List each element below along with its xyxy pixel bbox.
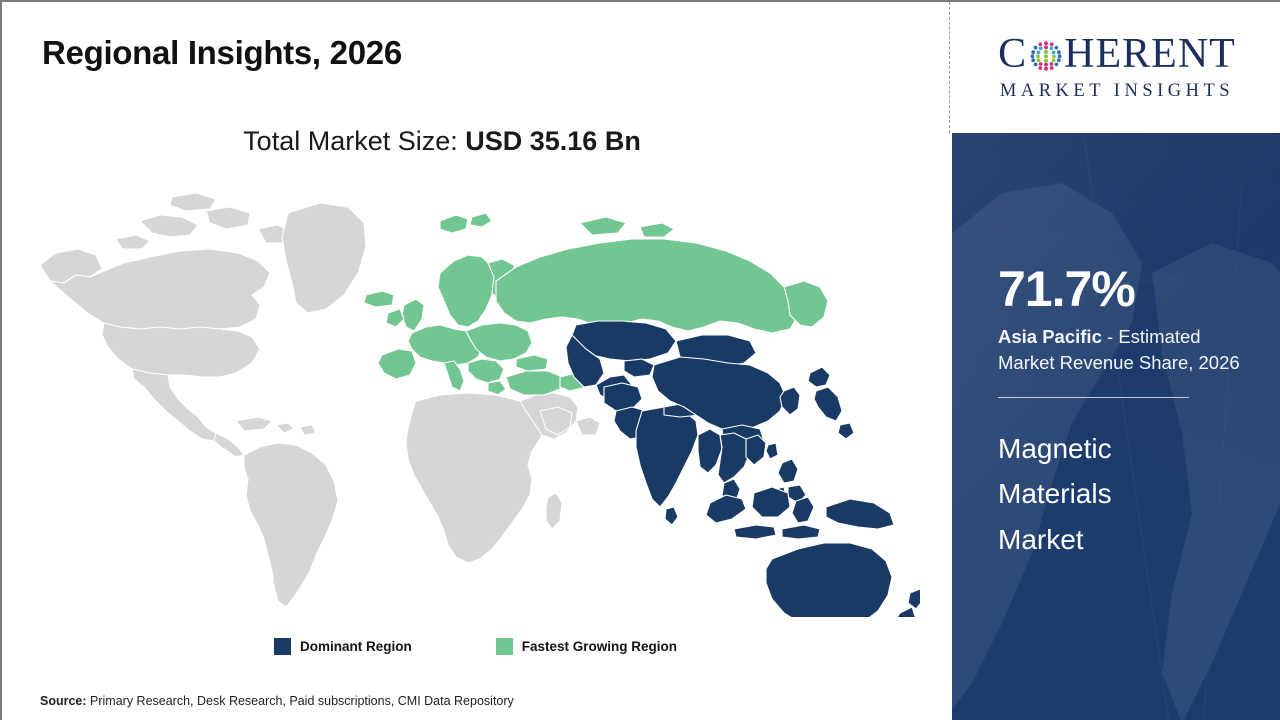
- market-size-value: USD 35.16 Bn: [465, 126, 641, 156]
- panel-content: 71.7% Asia Pacific - Estimated Market Re…: [998, 133, 1260, 562]
- left-content-pane: Regional Insights, 2026 Total Market Siz…: [2, 2, 949, 720]
- stat-panel: 71.7% Asia Pacific - Estimated Market Re…: [952, 133, 1280, 720]
- brand-logo: C: [952, 2, 1280, 133]
- source-label: Source:: [40, 694, 87, 708]
- legend-label-fastest-growing: Fastest Growing Region: [522, 639, 677, 654]
- source-note: Source: Primary Research, Desk Research,…: [40, 694, 514, 708]
- map-legend: Dominant Region Fastest Growing Region: [2, 638, 949, 655]
- logo-wordmark: C: [972, 33, 1262, 75]
- legend-item-fastest-growing: Fastest Growing Region: [496, 638, 677, 655]
- stat-description: Asia Pacific - Estimated Market Revenue …: [998, 324, 1244, 375]
- page-title: Regional Insights, 2026: [42, 34, 402, 72]
- dotted-globe-icon: [1029, 39, 1063, 73]
- logo-inner: C: [972, 33, 1262, 102]
- logo-letter-c: C: [998, 33, 1027, 75]
- stat-value: 71.7%: [998, 264, 1260, 314]
- green-square-swatch: [496, 638, 513, 655]
- world-map: [20, 177, 920, 617]
- legend-label-dominant: Dominant Region: [300, 639, 412, 654]
- navy-square-swatch: [274, 638, 291, 655]
- total-market-size: Total Market Size: USD 35.16 Bn: [2, 126, 882, 157]
- panel-divider-rule: [998, 397, 1189, 398]
- infographic-page: Regional Insights, 2026 Total Market Siz…: [0, 0, 1280, 720]
- market-name: Magnetic Materials Market: [998, 426, 1198, 562]
- map-region-dominant: [566, 321, 920, 617]
- legend-item-dominant: Dominant Region: [274, 638, 412, 655]
- market-size-prefix: Total Market Size:: [243, 126, 465, 156]
- logo-tagline: MARKET INSIGHTS: [972, 81, 1262, 102]
- source-text: Primary Research, Desk Research, Paid su…: [87, 694, 514, 708]
- stat-region-name: Asia Pacific: [998, 326, 1102, 347]
- map-region-neutral: [40, 193, 600, 607]
- world-map-svg: [20, 177, 920, 617]
- logo-letters-herent: HERENT: [1064, 33, 1236, 75]
- vertical-dashed-divider: [949, 2, 950, 133]
